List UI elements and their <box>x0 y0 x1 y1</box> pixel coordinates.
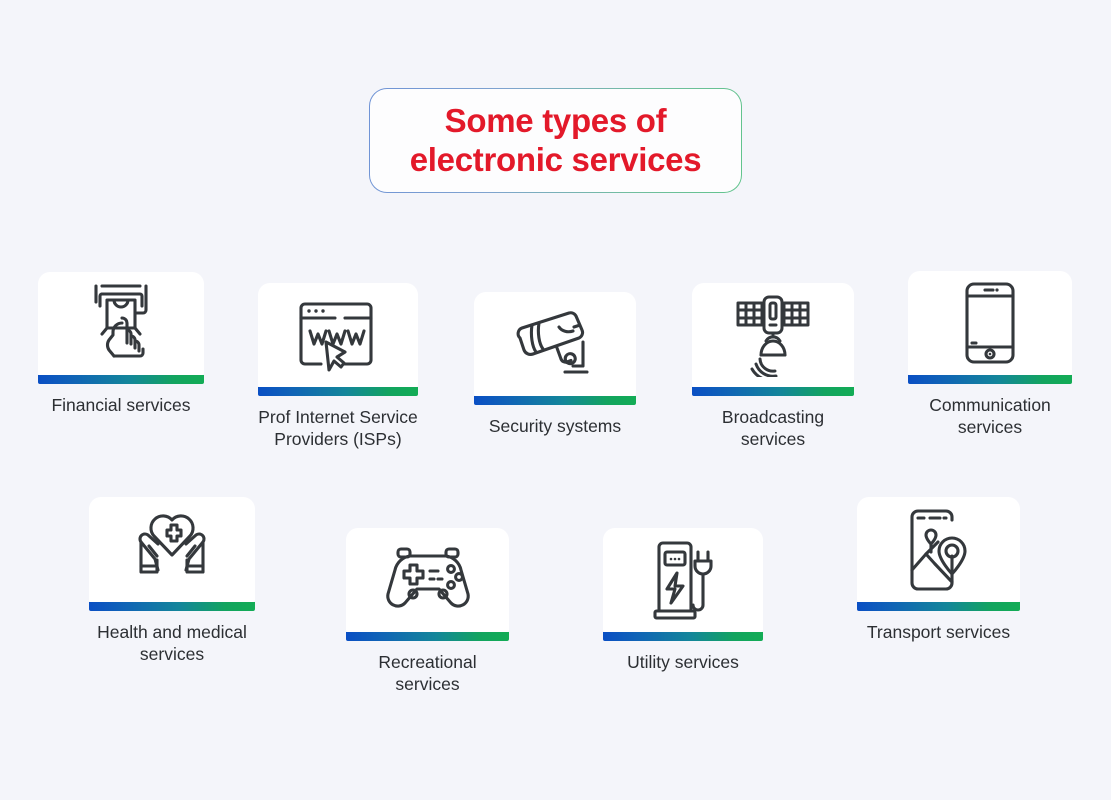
card-icon-tile <box>857 497 1020 602</box>
card-icon-tile <box>692 283 854 387</box>
card-utility-services[interactable]: Utility services <box>603 528 763 673</box>
card-accent-bar <box>258 387 418 396</box>
card-icon-tile <box>258 283 418 387</box>
card-accent-bar <box>908 375 1072 384</box>
card-label: Broadcasting services <box>692 406 854 451</box>
card-label: Prof Internet Service Providers (ISPs) <box>258 406 418 451</box>
card-label: Transport services <box>857 621 1020 643</box>
smartphone-icon <box>963 281 1017 365</box>
card-transport-services[interactable]: Transport services <box>857 497 1020 643</box>
card-accent-bar <box>692 387 854 396</box>
card-label: Utility services <box>603 651 763 673</box>
hands-heart-cross-icon <box>127 508 217 592</box>
card-internet-service-providers[interactable]: Prof Internet Service Providers (ISPs) <box>258 283 418 451</box>
card-broadcasting-services[interactable]: Broadcasting services <box>692 283 854 451</box>
card-communication-services[interactable]: Communication services <box>908 271 1072 439</box>
satellite-dish-icon <box>730 293 816 377</box>
card-label: Financial services <box>38 394 204 416</box>
card-icon-tile <box>346 528 509 632</box>
card-security-systems[interactable]: Security systems <box>474 292 636 437</box>
card-accent-bar <box>89 602 255 611</box>
card-icon-tile <box>89 497 255 602</box>
card-accent-bar <box>346 632 509 641</box>
card-icon-tile <box>474 292 636 396</box>
card-accent-bar <box>38 375 204 384</box>
card-accent-bar <box>474 396 636 405</box>
card-icon-tile <box>38 272 204 375</box>
title-banner: Some types of electronic services <box>369 88 742 193</box>
browser-www-cursor-icon <box>293 298 383 372</box>
card-accent-bar <box>603 632 763 641</box>
ev-charging-station-icon <box>651 539 715 621</box>
card-health-medical-services[interactable]: Health and medical services <box>89 497 255 666</box>
card-label: Recreational services <box>346 651 509 696</box>
card-icon-tile <box>603 528 763 632</box>
card-accent-bar <box>857 602 1020 611</box>
card-label: Communication services <box>908 394 1072 439</box>
game-controller-icon <box>380 545 476 615</box>
page-title: Some types of electronic services <box>370 102 741 179</box>
card-recreational-services[interactable]: Recreational services <box>346 528 509 696</box>
card-financial-services[interactable]: Financial services <box>38 272 204 416</box>
card-icon-tile <box>908 271 1072 375</box>
card-label: Health and medical services <box>89 621 255 666</box>
cctv-camera-icon <box>509 304 601 384</box>
atm-cash-hand-icon <box>78 280 164 368</box>
phone-map-pin-icon <box>904 508 974 592</box>
card-label: Security systems <box>474 415 636 437</box>
